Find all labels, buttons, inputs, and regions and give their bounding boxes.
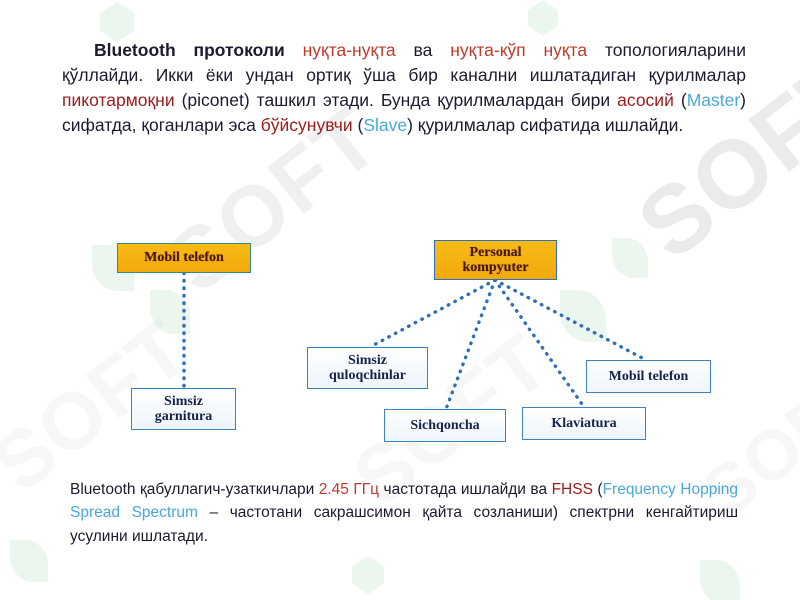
slide-page: SOFT SOFT SOFT SOFT SOFT Bluetooth прото… <box>0 0 800 600</box>
diagram-node-label: Simsiz garnitura <box>155 394 213 424</box>
intro-segment: Slave <box>363 115 407 135</box>
diagram-node-mobil-telefon-right: Mobil telefon <box>586 360 711 393</box>
connector-personal-kompyuter-to-mobil-telefon-right <box>495 280 646 360</box>
intro-segment: бўйсунувчи <box>261 115 353 135</box>
diagram-node-klaviatura: Klaviatura <box>522 407 646 440</box>
bluetooth-topology-diagram: Mobil telefonSimsiz garnituraPersonal ko… <box>0 228 800 463</box>
diagram-node-sichqoncha: Sichqoncha <box>384 409 506 442</box>
intro-segment: нуқта-кўп нуқта <box>450 40 587 60</box>
connector-personal-kompyuter-to-simsiz-quloqchinlar <box>370 280 495 347</box>
leaf-watermark-icon <box>10 540 48 582</box>
intro-paragraph: Bluetooth протоколи нуқта-нуқта ва нуқта… <box>62 38 746 137</box>
connector-personal-kompyuter-to-sichqoncha <box>446 280 495 409</box>
intro-segment: Master <box>687 90 740 110</box>
leaf-watermark-icon <box>100 2 134 42</box>
intro-segment: пикотармоқни <box>62 90 175 110</box>
diagram-node-label: Mobil telefon <box>609 369 689 384</box>
fhss-segment: Bluetooth қабуллагич-узаткичлари <box>70 481 319 498</box>
diagram-node-label: Mobil telefon <box>144 250 224 265</box>
diagram-node-mobil-telefon-left: Mobil telefon <box>117 243 251 273</box>
intro-segment: ( <box>353 115 364 135</box>
intro-segment: (piconet) ташкил этади. Бунда қурилмалар… <box>175 90 618 110</box>
diagram-node-personal-kompyuter: Personal kompyuter <box>434 240 557 280</box>
intro-segment: ва <box>396 40 451 60</box>
fhss-segment: FHSS <box>552 481 593 498</box>
connector-personal-kompyuter-to-klaviatura <box>495 280 584 407</box>
leaf-watermark-icon <box>528 0 558 36</box>
intro-segment: асосий <box>617 90 674 110</box>
intro-segment: ) қурилмалар сифатида ишлайди. <box>407 115 683 135</box>
diagram-node-label: Klaviatura <box>551 416 616 431</box>
leaf-watermark-icon <box>352 556 384 594</box>
fhss-segment: 2.45 ГГц <box>319 481 379 498</box>
diagram-node-simsiz-quloqchinlar: Simsiz quloqchinlar <box>307 347 428 389</box>
intro-segment: нуқта-нуқта <box>303 40 396 60</box>
diagram-node-simsiz-garnitura: Simsiz garnitura <box>131 388 236 430</box>
diagram-node-label: Simsiz quloqchinlar <box>329 353 406 383</box>
intro-segment: ( <box>674 90 687 110</box>
leaf-watermark-icon <box>700 560 740 600</box>
fhss-segment: частотада ишлайди ва <box>379 481 552 498</box>
fhss-paragraph: Bluetooth қабуллагич-узаткичлари 2.45 ГГ… <box>70 478 738 548</box>
intro-segment: протоколи <box>176 40 303 60</box>
intro-segment: Bluetooth <box>94 40 176 60</box>
fhss-segment: ( <box>593 481 603 498</box>
diagram-node-label: Sichqoncha <box>410 418 479 433</box>
diagram-node-label: Personal kompyuter <box>462 245 528 275</box>
